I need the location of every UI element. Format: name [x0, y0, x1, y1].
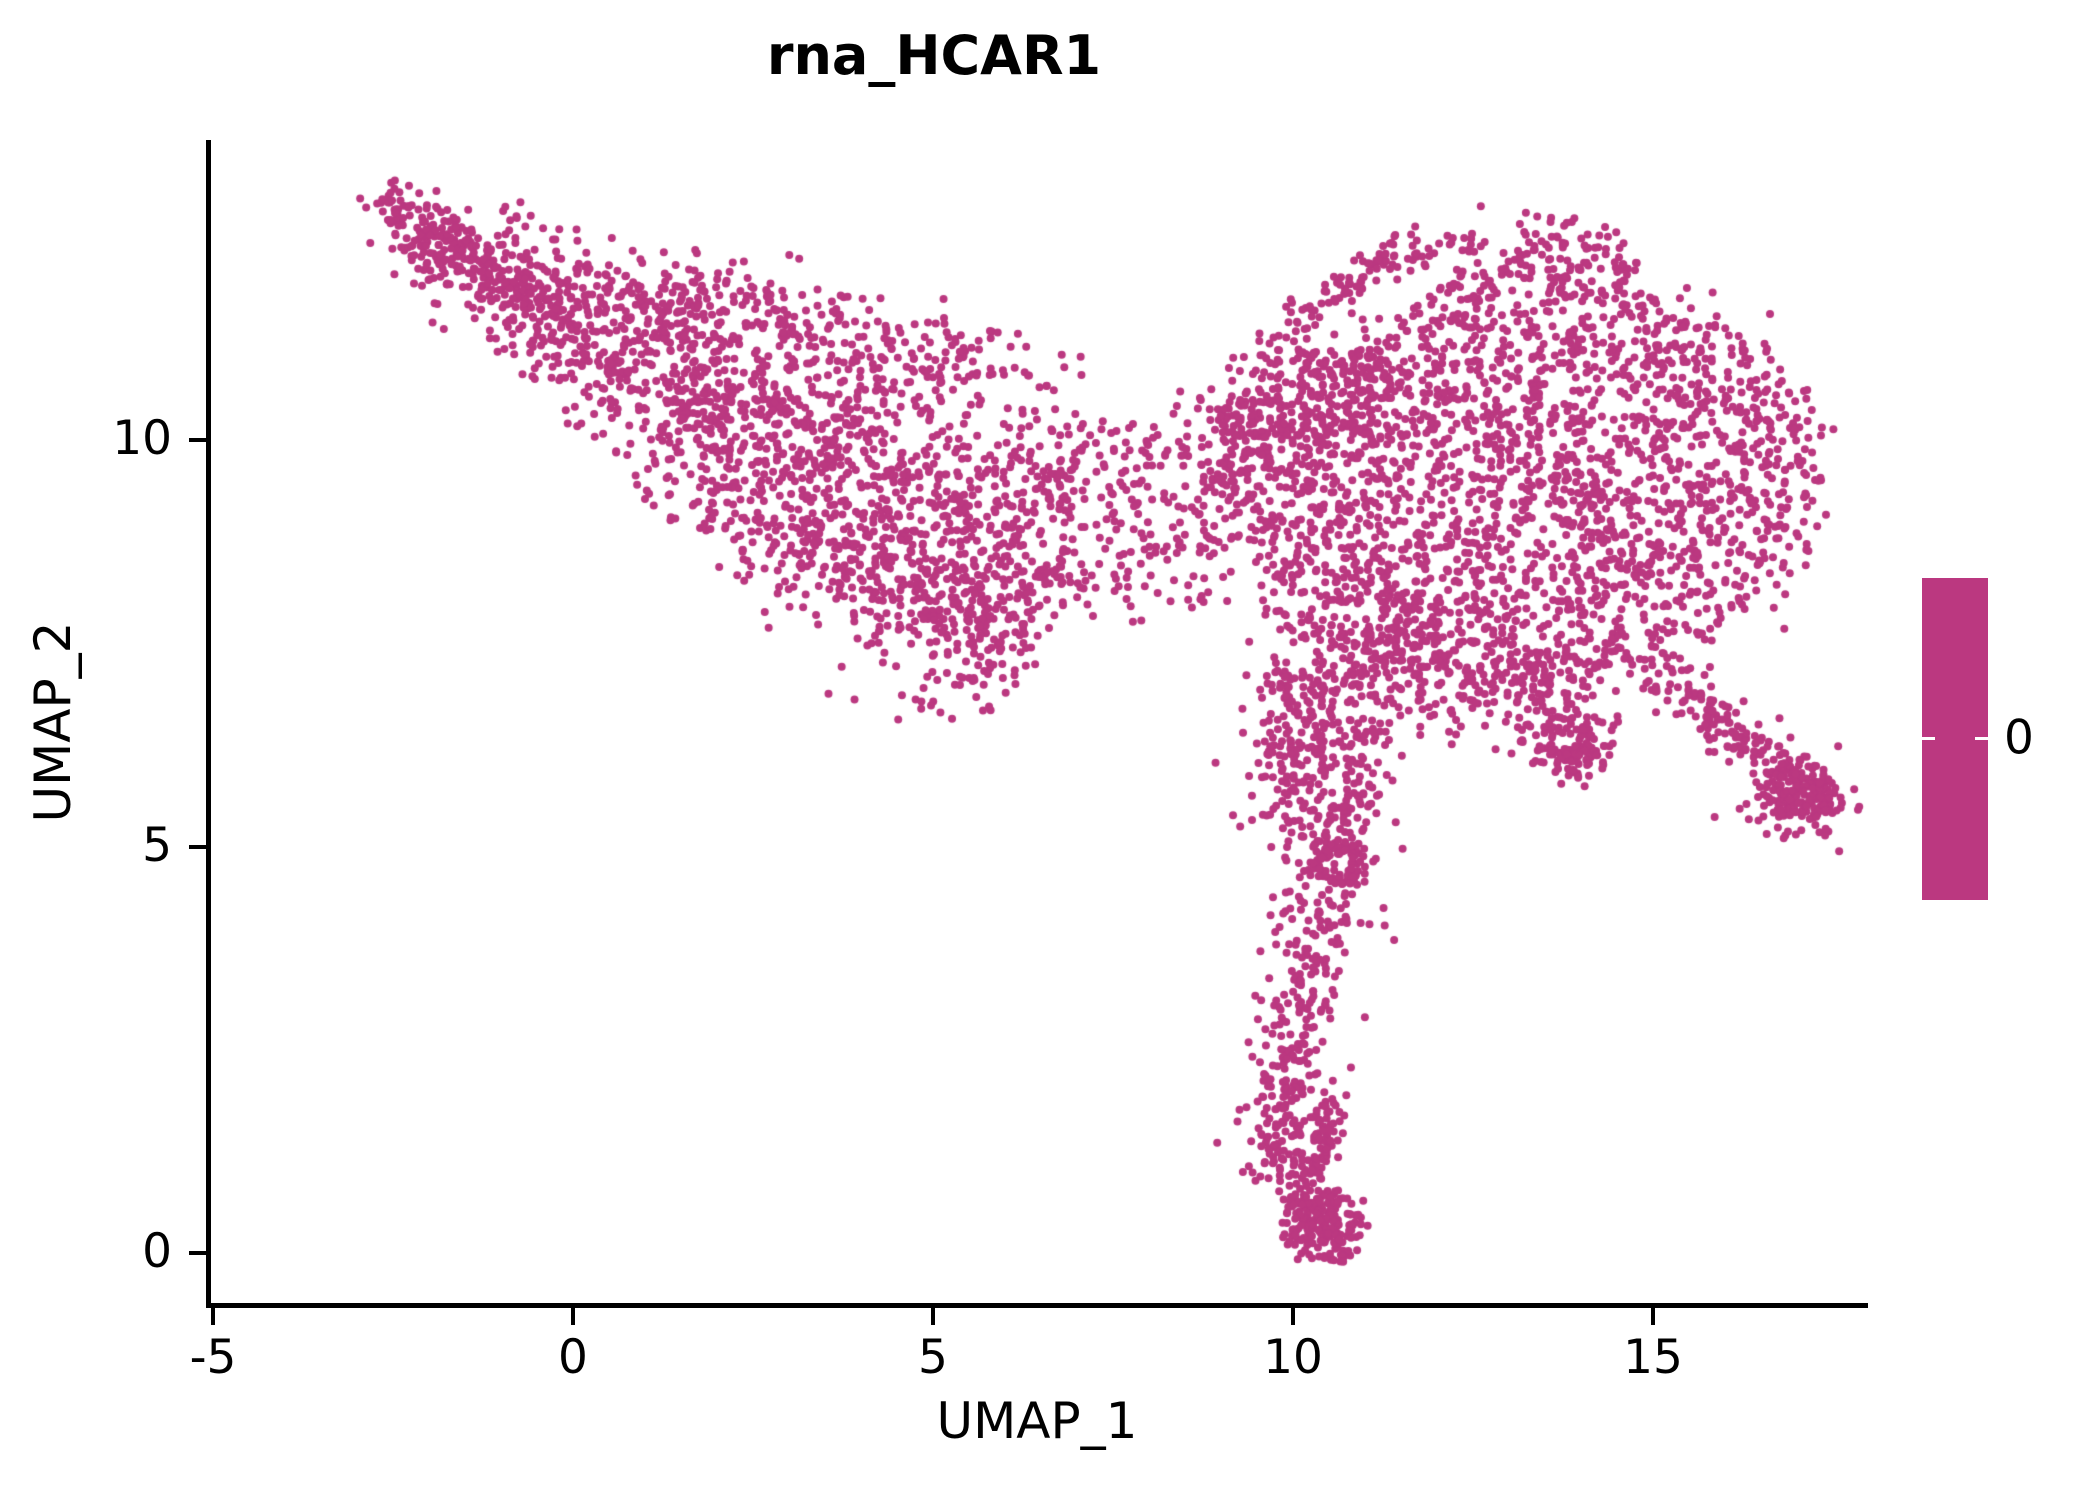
x-axis-label: UMAP_1 [206, 1392, 1868, 1450]
plot-axes-area [210, 140, 1868, 1305]
colorbar [1922, 578, 1988, 900]
x-tick-mark-3 [1291, 1308, 1295, 1325]
y-tick-mark-2 [189, 438, 206, 442]
colorbar-tick-right [1975, 737, 1988, 740]
y-axis-label: UMAP_2 [24, 372, 82, 1072]
y-tick-mark-0 [189, 1251, 206, 1255]
x-tick-label-4: 15 [1623, 1330, 1683, 1385]
y-tick-label-1: 5 [112, 818, 172, 873]
x-tick-label-0: -5 [190, 1330, 237, 1385]
y-tick-label-0: 0 [112, 1224, 172, 1279]
umap-scatter-canvas [210, 140, 1868, 1305]
y-axis-spine [206, 140, 211, 1308]
scatter-plot-figure: rna_HCAR1 -5 0 5 10 15 0 5 10 UMAP_1 UMA… [0, 0, 2100, 1500]
page-title: rna_HCAR1 [0, 24, 1868, 87]
colorbar-tick-left [1922, 737, 1935, 740]
x-tick-label-1: 0 [558, 1330, 588, 1385]
x-tick-mark-1 [571, 1308, 575, 1325]
y-tick-mark-1 [189, 845, 206, 849]
colorbar-tick-label: 0 [2004, 711, 2034, 766]
x-tick-mark-2 [931, 1308, 935, 1325]
x-axis-spine [206, 1303, 1868, 1308]
x-tick-mark-0 [211, 1308, 215, 1325]
x-tick-mark-4 [1651, 1308, 1655, 1325]
x-tick-label-3: 10 [1263, 1330, 1323, 1385]
x-tick-label-2: 5 [918, 1330, 948, 1385]
y-tick-label-2: 10 [85, 411, 172, 466]
